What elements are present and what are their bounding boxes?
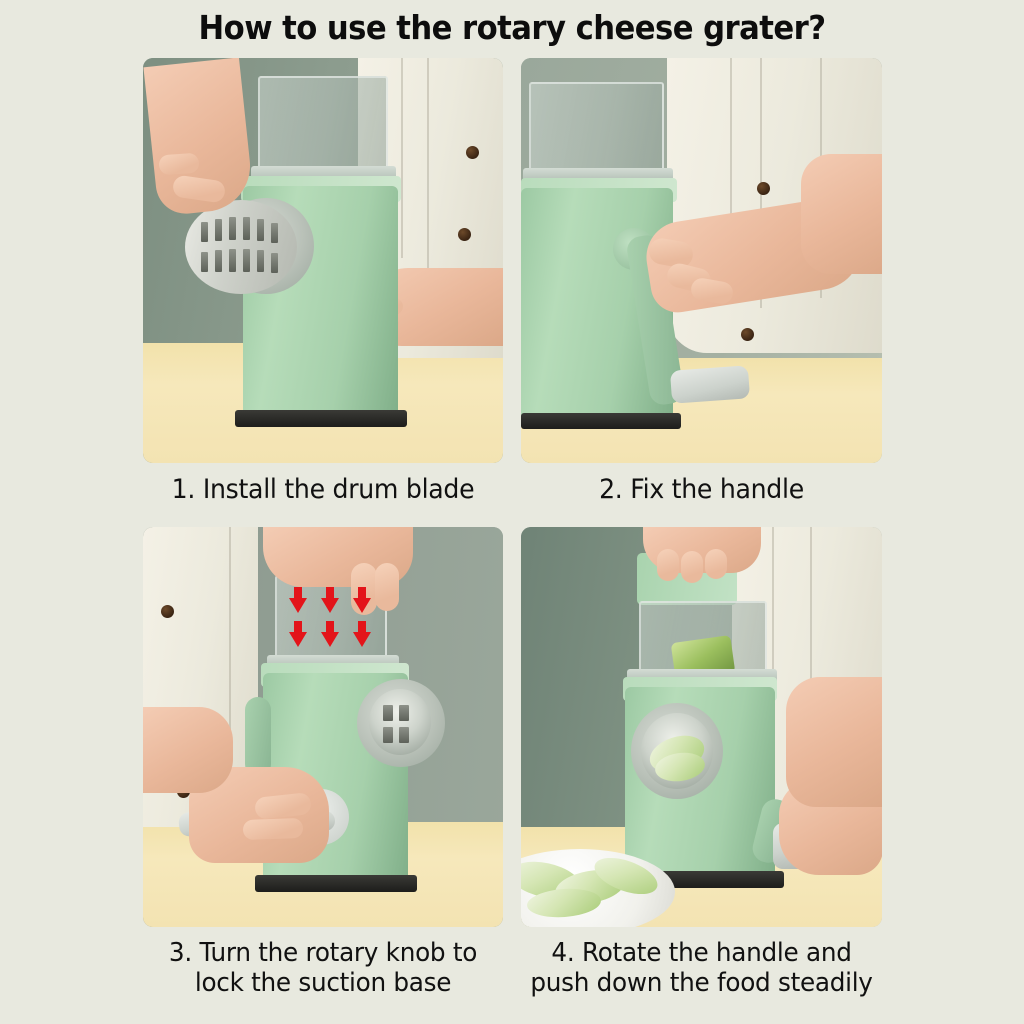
shirt-button-icon [757, 182, 770, 195]
step-caption-2: 2. Fix the handle [530, 475, 873, 505]
step-photo-2 [521, 58, 882, 463]
page-title: How to use the rotary cheese grater? [36, 8, 988, 47]
drum-slot [399, 705, 409, 721]
arrow-down-icon [321, 587, 339, 613]
step-card-1: 1. Install the drum blade [143, 58, 503, 505]
arrow-down-icon [289, 621, 307, 647]
forearm [801, 154, 882, 274]
step-caption-3: 3. Turn the rotary knob to lock the suct… [152, 939, 494, 998]
arrow-down-icon [353, 587, 371, 613]
drum-opening [369, 689, 431, 755]
drum-slot [201, 222, 208, 242]
drum-slot [271, 223, 278, 243]
drum-slot [257, 250, 264, 272]
fabric-fold [401, 58, 403, 258]
suction-base [255, 875, 417, 892]
shirt-button-icon [466, 146, 479, 159]
shirt-button-icon [458, 228, 471, 241]
drum-slot [383, 705, 393, 721]
crank-grip[interactable] [670, 365, 750, 403]
drum-slot [215, 219, 222, 241]
step-photo-1 [143, 58, 503, 463]
drum-slot [229, 249, 236, 272]
step-photo-4 [521, 527, 882, 927]
step-caption-1: 1. Install the drum blade [152, 475, 494, 505]
step-card-4: 4. Rotate the handle and push down the f… [521, 527, 882, 998]
step-caption-4: 4. Rotate the handle and push down the f… [530, 939, 873, 998]
forearm [786, 677, 882, 807]
drum-slot [215, 250, 222, 272]
shirt-button-icon [741, 328, 754, 341]
drum-slot [243, 217, 250, 240]
finger [657, 549, 679, 581]
finger [158, 153, 199, 176]
drum-slot [383, 727, 393, 743]
arrow-down-icon [321, 621, 339, 647]
step-card-3: 3. Turn the rotary knob to lock the suct… [143, 527, 503, 998]
finger [375, 563, 399, 611]
drum-slot [201, 252, 208, 272]
fabric-fold [427, 58, 429, 288]
steps-grid: 1. Install the drum blade [143, 58, 882, 998]
drum-slot [271, 253, 278, 273]
step-photo-3 [143, 527, 503, 927]
drum-slot [229, 217, 236, 240]
steps-row-top: 1. Install the drum blade [143, 58, 882, 505]
finger [705, 549, 727, 579]
hopper-chute [258, 76, 388, 171]
drum-slot [399, 727, 409, 743]
steps-row-bottom: 3. Turn the rotary knob to lock the suct… [143, 527, 882, 998]
arrow-down-icon [353, 621, 371, 647]
finger [243, 818, 304, 840]
press-down-arrows [289, 587, 375, 649]
forearm [143, 707, 233, 793]
step-card-2: 2. Fix the handle [521, 58, 882, 505]
finger [681, 551, 703, 583]
arrow-down-icon [289, 587, 307, 613]
drum-blade [185, 200, 297, 294]
hopper-chute [529, 82, 664, 174]
infographic-page: How to use the rotary cheese grater? [0, 0, 1024, 1024]
suction-base [521, 413, 681, 429]
drum-slot [257, 219, 264, 241]
drum-slot [243, 249, 250, 272]
drum-slot-group [185, 200, 297, 294]
crank-arm[interactable] [245, 697, 271, 777]
suction-base [235, 410, 407, 427]
